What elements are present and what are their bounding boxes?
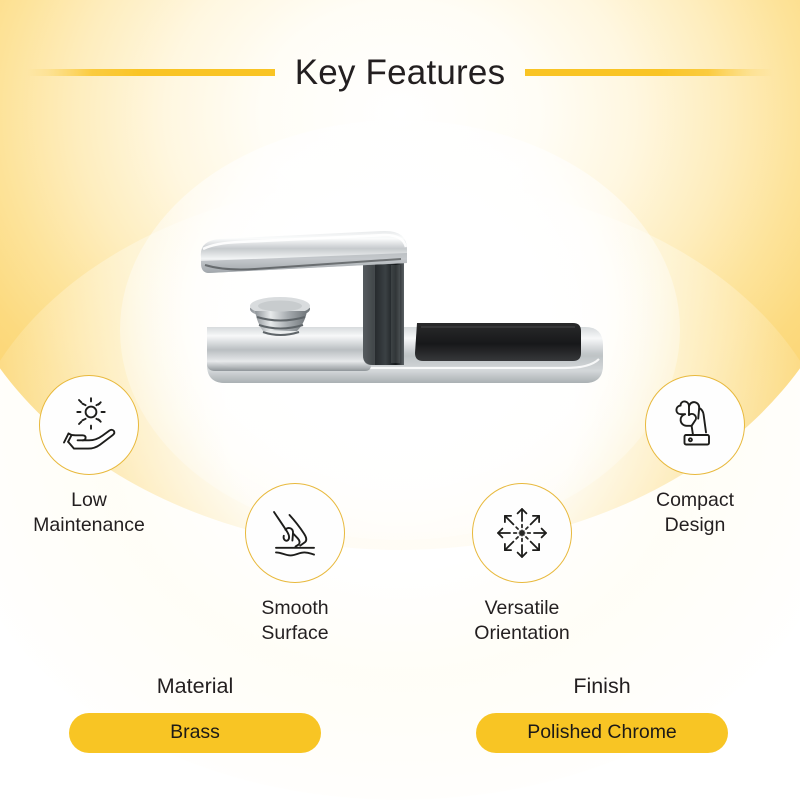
divider-rule-right — [525, 69, 773, 76]
hand-pinch-clamp-icon — [664, 394, 726, 456]
feature-label: Versatile Orientation — [474, 596, 569, 646]
feature-icon-circle — [472, 483, 572, 583]
hand-holding-gear-icon — [58, 394, 120, 456]
feature-label: Compact Design — [656, 488, 734, 538]
divider-rule-left — [27, 69, 275, 76]
spec-finish: Finish Polished Chrome — [452, 676, 752, 753]
page-title: Key Features — [275, 55, 526, 90]
feature-label: Smooth Surface — [261, 596, 328, 646]
feature-label: Low Maintenance — [33, 488, 145, 538]
feature-versatile-orientation[interactable]: Versatile Orientation — [432, 483, 612, 646]
product-image — [185, 205, 615, 395]
feature-smooth-surface[interactable]: Smooth Surface — [205, 483, 385, 646]
key-features-infographic: Key Features — [0, 0, 800, 800]
header: Key Features — [0, 42, 800, 102]
multi-direction-arrows-icon — [491, 502, 553, 564]
spec-title: Material — [157, 676, 233, 698]
spec-material: Material Brass — [45, 676, 345, 753]
glass-clamp-bracket-illustration — [185, 205, 615, 395]
feature-compact-design[interactable]: Compact Design — [605, 375, 785, 538]
feature-low-maintenance[interactable]: Low Maintenance — [0, 375, 179, 538]
spec-value-pill[interactable]: Polished Chrome — [476, 713, 728, 753]
spec-title: Finish — [573, 676, 630, 698]
hand-touching-surface-icon — [264, 502, 326, 564]
feature-icon-circle — [645, 375, 745, 475]
feature-icon-circle — [245, 483, 345, 583]
spec-value-pill[interactable]: Brass — [69, 713, 321, 753]
feature-icon-circle — [39, 375, 139, 475]
